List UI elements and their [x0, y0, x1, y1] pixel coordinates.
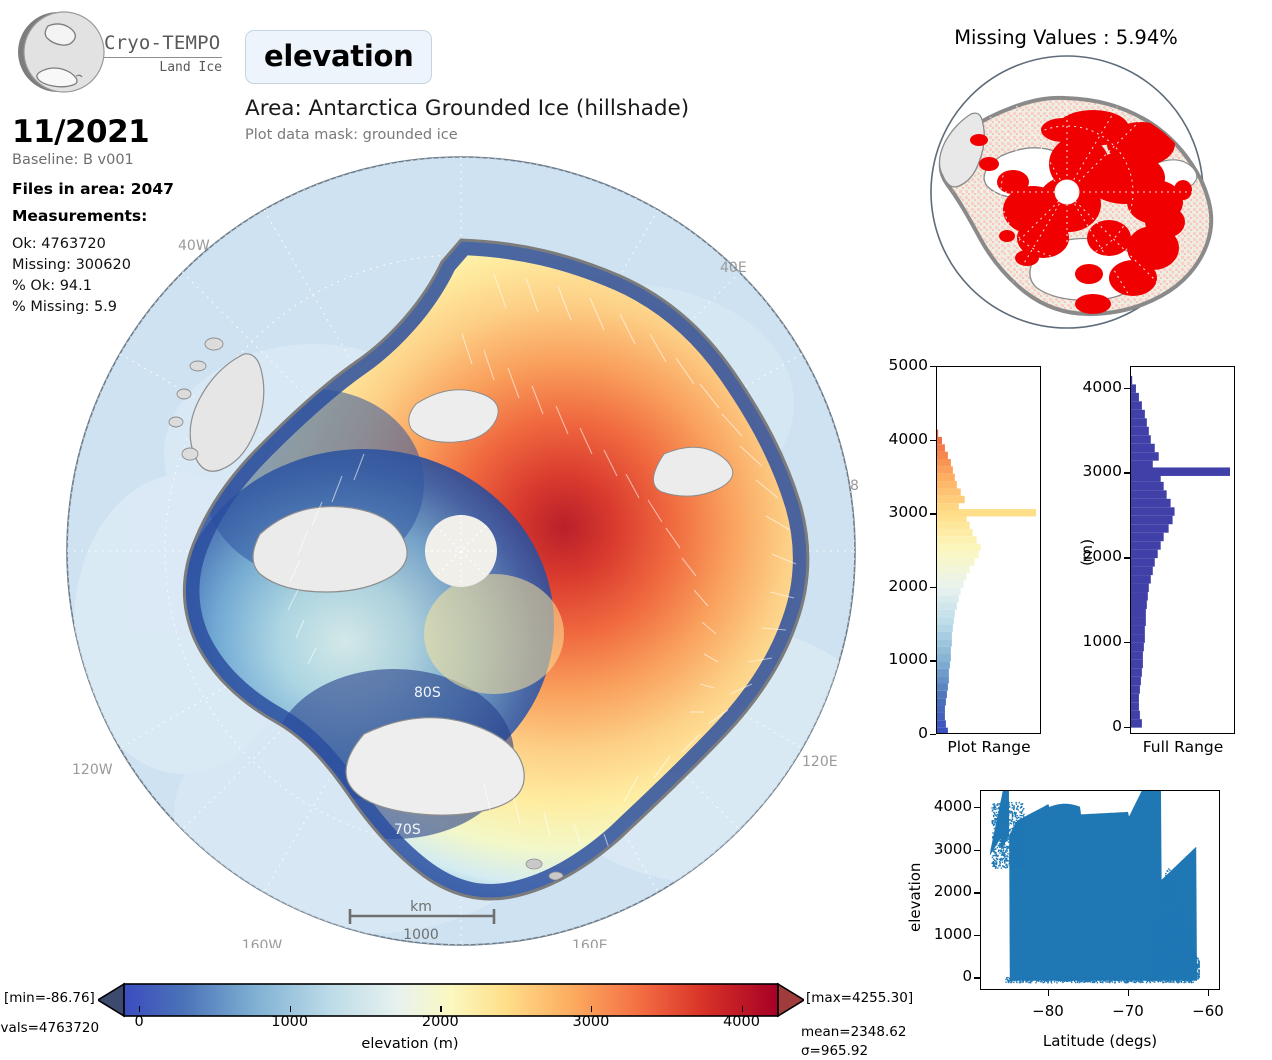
scatter-x-tick-mark [1128, 990, 1129, 996]
histogram-bar [1131, 410, 1145, 418]
map-lon-label-80e: 80E [850, 478, 858, 494]
histogram-bar [1131, 427, 1149, 435]
scatter-y-tick-mark [974, 850, 980, 851]
histogram-bar [1131, 452, 1159, 460]
histogram-bar [1131, 575, 1151, 583]
logo-subtitle: Land Ice [104, 60, 222, 75]
colorbar-tick-label: 0 [134, 1014, 143, 1030]
histogram-bar [937, 603, 957, 610]
colorbar-tick-label: 4000 [723, 1014, 760, 1030]
histogram-bar [937, 654, 951, 661]
scatter-x-tick-label: −80 [1024, 1002, 1072, 1020]
histograms-panel: Plot Range Full Range (m) 50004000300020… [862, 356, 1272, 764]
histogram-bar [937, 580, 964, 587]
full-range-axis-label: Full Range [1110, 738, 1256, 756]
histogram-bar [937, 529, 973, 536]
colorbar-tick-mark [290, 1006, 291, 1012]
histogram-bar [1131, 516, 1173, 524]
map-pole-data-gap [425, 515, 497, 587]
histogram-bar [937, 481, 957, 488]
histogram-bar [1131, 719, 1142, 727]
histogram-tick-mark [930, 587, 936, 588]
histogram-bar [937, 647, 951, 654]
colorbar-tick-mark [591, 1006, 592, 1012]
histogram-bar [1131, 418, 1147, 426]
date-label: 11/2021 [12, 114, 149, 150]
cryo-tempo-logo [14, 6, 106, 98]
histogram-tick-label: 4000 [870, 430, 928, 448]
histogram-bar [1131, 541, 1161, 549]
histogram-tick-label: 1000 [1064, 632, 1122, 650]
logo-divider [104, 57, 222, 58]
histogram-bar [1131, 694, 1139, 702]
scatter-y-tick-mark [974, 892, 980, 893]
histogram-bar [937, 676, 949, 683]
histogram-tick-label: 2000 [870, 577, 928, 595]
histogram-bar [937, 551, 979, 558]
histogram-bar [937, 610, 955, 617]
histogram-bar [1131, 677, 1141, 685]
histogram-bar [937, 632, 952, 639]
histogram-tick-mark [930, 513, 936, 514]
histogram-bar [1131, 444, 1155, 452]
histogram-bar [1131, 584, 1149, 592]
histogram-bar [937, 588, 961, 595]
histogram-tick-mark [1124, 388, 1130, 389]
map-lon-label-40e: 40E [720, 260, 747, 276]
histogram-bar [1131, 702, 1139, 710]
histogram-bar [937, 536, 977, 543]
histogram-bar [937, 474, 955, 481]
scatter-y-axis-label: elevation [906, 863, 924, 932]
histogram-bar [937, 625, 953, 632]
colorbar-min-label: [min=-86.76] [4, 990, 95, 1006]
scatter-y-tick-label: 1000 [924, 925, 972, 943]
scatter-x-axis-label: Latitude (degs) [980, 1032, 1220, 1050]
histogram-bar [1131, 609, 1146, 617]
histogram-bar [1131, 651, 1143, 659]
histogram-tick-label: 4000 [1064, 378, 1122, 396]
histogram-bar [937, 706, 945, 713]
histogram-tick-label: 0 [870, 724, 928, 742]
histogram-tick-label: 1000 [870, 650, 928, 668]
scatter-y-tick-mark [974, 935, 980, 936]
plot-range-axis-label: Plot Range [916, 738, 1062, 756]
scatter-panel: elevation Latitude (degs) 40003000200010… [880, 782, 1272, 1060]
map-scale-unit: km [410, 899, 432, 915]
histogram-tick-label: 3000 [870, 503, 928, 521]
scatter-x-tick-mark [1048, 990, 1049, 996]
histogram-bar [1131, 490, 1167, 498]
logo-wordmark: Cryo-TEMPO Land Ice [104, 32, 224, 75]
histogram-tick-mark [1124, 472, 1130, 473]
histogram-bar [1131, 384, 1136, 392]
histogram-bar [937, 558, 975, 565]
histogram-bar [1131, 461, 1153, 469]
colorbar-max-label: [max=4255.30] [806, 990, 913, 1006]
histogram-tick-mark [1124, 727, 1130, 728]
histogram-bar [1131, 393, 1139, 401]
histogram-bar [937, 437, 942, 444]
histogram-bar [1131, 558, 1155, 566]
histogram-tick-mark [930, 366, 936, 367]
histogram-bar [1131, 507, 1175, 515]
histogram-tick-mark [1124, 557, 1130, 558]
histogram-bar [937, 669, 949, 676]
histogram-bar [937, 661, 950, 668]
histogram-bar [937, 573, 967, 580]
histogram-bar [1131, 634, 1145, 642]
histogram-bar [937, 720, 946, 727]
colorbar-tick-mark [139, 1006, 140, 1012]
histogram-bar [937, 430, 938, 437]
histogram-bar [1131, 401, 1142, 409]
histogram-bar [1131, 499, 1171, 507]
globe-antarctica-icon [14, 6, 106, 98]
colorbar-tick-mark [742, 1006, 743, 1012]
histogram-bar [937, 544, 981, 551]
scatter-x-tick-mark [1208, 990, 1209, 996]
histogram-bar [1131, 601, 1147, 609]
histogram-bar [1131, 626, 1145, 634]
histogram-bar [937, 503, 959, 510]
main-polar-map: 0E 40E 80E 120E 160E 160W 120W 80W 40W 7… [64, 154, 858, 948]
scatter-y-tick-mark [974, 807, 980, 808]
histogram-bar [937, 566, 970, 573]
scatter-y-tick-label: 3000 [924, 840, 972, 858]
histogram-bar [937, 713, 945, 720]
histogram-bar [937, 444, 945, 451]
histogram-tick-mark [1124, 642, 1130, 643]
histogram-tick-mark [930, 660, 936, 661]
scatter-y-tick-label: 4000 [924, 797, 972, 815]
map-lat-label-80s: 80S [414, 685, 441, 701]
scatter-y-tick-mark [974, 977, 980, 978]
histogram-bar [1131, 592, 1148, 600]
histogram-bar [1131, 376, 1132, 384]
plot-range-histogram [936, 366, 1041, 734]
histogram-bar [937, 691, 947, 698]
scatter-y-tick-label: 2000 [924, 882, 972, 900]
histogram-bar [937, 728, 948, 734]
plot-data-mask-subtitle: Plot data mask: grounded ice [245, 127, 458, 143]
colorbar-tick-label: 1000 [271, 1014, 308, 1030]
histogram-bar [937, 595, 959, 602]
histogram-tick-label: 5000 [870, 356, 928, 374]
map-lon-label-160w: 160W [242, 938, 283, 948]
colorbar-nvals-label: nvals=4763720 [0, 1020, 99, 1036]
histogram-bar [937, 617, 954, 624]
missing-values-map [893, 52, 1241, 332]
histogram-bar [937, 522, 970, 529]
histogram-bar [937, 496, 965, 503]
histogram-tick-label: 2000 [1064, 547, 1122, 565]
histogram-bar [1131, 567, 1153, 575]
histogram-bar [1131, 533, 1164, 541]
histogram-bar [1131, 711, 1140, 719]
map-lat-label-70s: 70S [394, 822, 421, 838]
histogram-bar [937, 466, 953, 473]
colorbar-axis-title: elevation (m) [130, 1036, 690, 1052]
map-lon-label-160e: 160E [572, 938, 608, 948]
histogram-bar [1131, 660, 1143, 668]
map-lon-label-120e: 120E [802, 754, 838, 770]
colorbar-tick-mark [440, 1006, 441, 1012]
logo-title: Cryo-TEMPO [104, 32, 224, 54]
colorbar-sigma-label: σ=965.92 [801, 1043, 868, 1059]
histogram-bar [937, 488, 961, 495]
missing-map-pole-gap [1055, 180, 1079, 204]
histogram-tick-mark [930, 440, 936, 441]
scatter-y-tick-label: 0 [924, 967, 972, 985]
colorbar-panel: [min=-86.76] nvals=4763720 [max=4255.30]… [0, 978, 916, 1060]
histogram-bar [937, 683, 948, 690]
elevation-vs-latitude-scatter [980, 790, 1220, 990]
histogram-bar [937, 459, 951, 466]
colorbar-tick-labels: 01000200030004000 [100, 1010, 790, 1030]
variable-badge: elevation [245, 30, 432, 84]
histogram-bar [1131, 482, 1164, 490]
colorbar-tick-label: 3000 [572, 1014, 609, 1030]
histogram-bar [937, 639, 952, 646]
histogram-tick-mark [930, 734, 936, 735]
map-lon-label-40w: 40W [178, 238, 210, 254]
histogram-bar [1131, 668, 1142, 676]
area-title: Area: Antarctica Grounded Ice (hillshade… [245, 96, 689, 121]
map-scale-value: 1000 [403, 927, 439, 943]
map-lon-label-120w: 120W [72, 762, 113, 778]
histogram-bar [1131, 617, 1146, 625]
full-range-histogram [1130, 366, 1235, 734]
histogram-bar [1131, 524, 1169, 532]
colorbar-mean-label: mean=2348.62 [801, 1024, 906, 1040]
histogram-bar [1131, 643, 1144, 651]
scatter-x-tick-label: −70 [1104, 1002, 1152, 1020]
missing-values-title: Missing Values : 5.94% [860, 26, 1272, 49]
colorbar-tick-label: 2000 [422, 1014, 459, 1030]
histogram-bar [1131, 550, 1158, 558]
histogram-bar [1131, 685, 1140, 693]
histogram-tick-label: 0 [1064, 717, 1122, 735]
histogram-bar [937, 698, 946, 705]
histogram-bar [1131, 435, 1151, 443]
histogram-tick-label: 3000 [1064, 462, 1122, 480]
histogram-bar [937, 452, 948, 459]
scatter-x-tick-label: −60 [1184, 1002, 1232, 1020]
